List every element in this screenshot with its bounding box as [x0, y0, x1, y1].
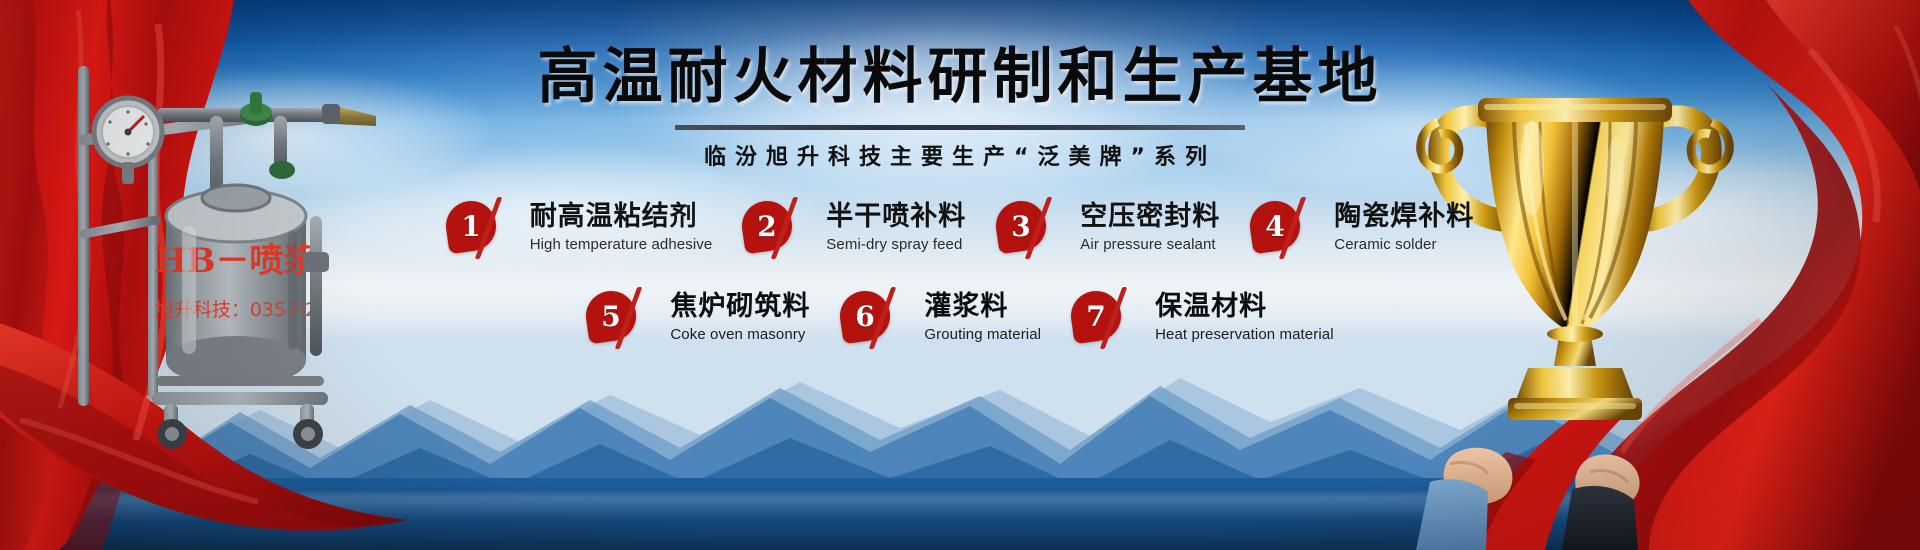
promo-banner: HB－喷浆 旭升科技：0357-2 高温耐火材料研制和生产基地 临汾旭升科技主要… [0, 0, 1920, 550]
spray-machine: HB－喷浆 旭升科技：0357-2 [60, 20, 400, 450]
product-labels-6: 灌浆料 Grouting material [924, 291, 1041, 343]
product-labels-7: 保温材料 Heat preservation material [1155, 291, 1334, 343]
badge-wrap-5: 5 [586, 291, 660, 353]
product-item-6[interactable]: 6 灌浆料 Grouting material [840, 291, 1041, 353]
product-name-cn: 保温材料 [1155, 292, 1334, 322]
product-labels-3: 空压密封料 Air pressure sealant [1080, 201, 1220, 253]
title-divider [675, 125, 1245, 130]
product-item-7[interactable]: 7 保温材料 Heat preservation material [1071, 291, 1334, 353]
product-name-en: Heat preservation material [1155, 326, 1334, 343]
product-name-en: Semi-dry spray feed [826, 236, 966, 253]
page-title: 高温耐火材料研制和生产基地 [400, 46, 1520, 109]
product-name-en: Air pressure sealant [1080, 236, 1220, 253]
product-labels-2: 半干喷补料 Semi-dry spray feed [826, 201, 966, 253]
badge-wrap-7: 7 [1071, 291, 1145, 353]
product-name-cn: 焦炉砌筑料 [670, 292, 810, 322]
banner-content: 高温耐火材料研制和生产基地 临汾旭升科技主要生产“泛美牌”系列 1 耐高温粘结剂… [400, 46, 1520, 466]
product-name-en: Ceramic solder [1334, 236, 1474, 253]
product-name-cn: 空压密封料 [1080, 202, 1220, 232]
product-name-en: High temperature adhesive [530, 236, 713, 253]
product-list: 1 耐高温粘结剂 High temperature adhesive 2 [400, 201, 1520, 353]
product-item-3[interactable]: 3 空压密封料 Air pressure sealant [996, 201, 1220, 263]
badge-wrap-3: 3 [996, 201, 1070, 263]
badge-wrap-2: 2 [742, 201, 816, 263]
product-item-5[interactable]: 5 焦炉砌筑料 Coke oven masonry [586, 291, 810, 353]
product-item-1[interactable]: 1 耐高温粘结剂 High temperature adhesive [446, 201, 713, 263]
product-item-2[interactable]: 2 半干喷补料 Semi-dry spray feed [742, 201, 966, 263]
product-labels-1: 耐高温粘结剂 High temperature adhesive [530, 201, 713, 253]
product-item-4[interactable]: 4 陶瓷焊补料 Ceramic solder [1250, 201, 1474, 263]
product-name-cn: 灌浆料 [924, 292, 1041, 322]
product-labels-4: 陶瓷焊补料 Ceramic solder [1334, 201, 1474, 253]
product-name-en: Coke oven masonry [670, 326, 810, 343]
badge-wrap-4: 4 [1250, 201, 1324, 263]
product-name-en: Grouting material [924, 326, 1041, 343]
product-name-cn: 陶瓷焊补料 [1334, 202, 1474, 232]
product-row-1: 1 耐高温粘结剂 High temperature adhesive 2 [400, 201, 1520, 263]
badge-wrap-1: 1 [446, 201, 520, 263]
badge-wrap-6: 6 [840, 291, 914, 353]
product-name-cn: 耐高温粘结剂 [530, 202, 713, 232]
product-name-cn: 半干喷补料 [826, 202, 966, 232]
page-subtitle: 临汾旭升科技主要生产“泛美牌”系列 [400, 139, 1520, 171]
product-row-2: 5 焦炉砌筑料 Coke oven masonry 6 [400, 291, 1520, 353]
product-labels-5: 焦炉砌筑料 Coke oven masonry [670, 291, 810, 343]
